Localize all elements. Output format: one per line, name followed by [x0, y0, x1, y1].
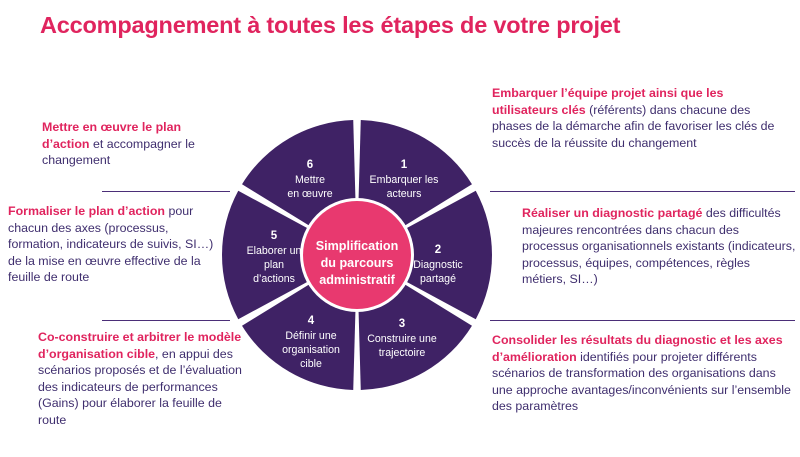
callout-left-middle: Formaliser le plan d’action pour chacun … [8, 203, 223, 286]
segment-1-line1: Embarquer les [370, 174, 439, 186]
segment-2-number: 2 [435, 244, 441, 256]
segment-2-line2: partagé [420, 273, 456, 285]
hub-label-line2: du parcours [321, 256, 394, 270]
hub-label-line1: Simplification [316, 239, 399, 253]
segment-1-line2: acteurs [387, 188, 422, 200]
hub-circle[interactable] [303, 201, 411, 309]
callout-left-middle-bold: Formaliser le plan d’action [8, 204, 165, 218]
callout-right-middle-bold: Réaliser un diagnostic partagé [522, 206, 702, 220]
hub-label-line3: administratif [319, 273, 395, 287]
segment-5-line1: Elaborer un [247, 245, 302, 257]
segment-5-line3: d’actions [253, 273, 295, 285]
callout-right-top: Embarquer l’équipe projet ainsi que les … [492, 85, 792, 151]
segment-6-number: 6 [307, 159, 313, 171]
segment-1-number: 1 [401, 159, 408, 171]
connector-rule-right-top [490, 191, 795, 192]
segment-4-line1: Définir une [285, 330, 336, 342]
connector-rule-left-top [102, 191, 230, 192]
segment-2-line1: Diagnostic [413, 259, 463, 271]
segment-6-line2: en œuvre [287, 188, 332, 200]
segment-3-number: 3 [399, 318, 405, 330]
segment-3-line1: Construire une [367, 333, 437, 345]
segment-4-line3: cible [300, 358, 322, 370]
segment-6-line1: Mettre [295, 174, 325, 186]
page-title: Accompagnement à toutes les étapes de vo… [40, 12, 620, 39]
segment-4-line2: organisation [282, 344, 340, 356]
segment-4-number: 4 [308, 315, 315, 327]
callout-left-top: Mettre en œuvre le plan d’action et acco… [42, 119, 227, 169]
connector-rule-left-bottom [102, 320, 230, 321]
process-wheel-diagram: Simplification du parcours administratif… [222, 120, 492, 390]
callout-right-bottom: Consolider les résultats du diagnostic e… [492, 332, 792, 415]
segment-5-line2: plan [264, 259, 284, 271]
callout-left-bottom: Co-construire et arbitrer le modèle d’or… [38, 329, 243, 428]
segment-3-line2: trajectoire [379, 347, 426, 359]
callout-right-middle: Réaliser un diagnostic partagé des diffi… [522, 205, 797, 288]
segment-5-number: 5 [271, 230, 278, 242]
process-wheel-svg: Simplification du parcours administratif… [222, 120, 492, 390]
connector-rule-right-bottom [490, 320, 795, 321]
